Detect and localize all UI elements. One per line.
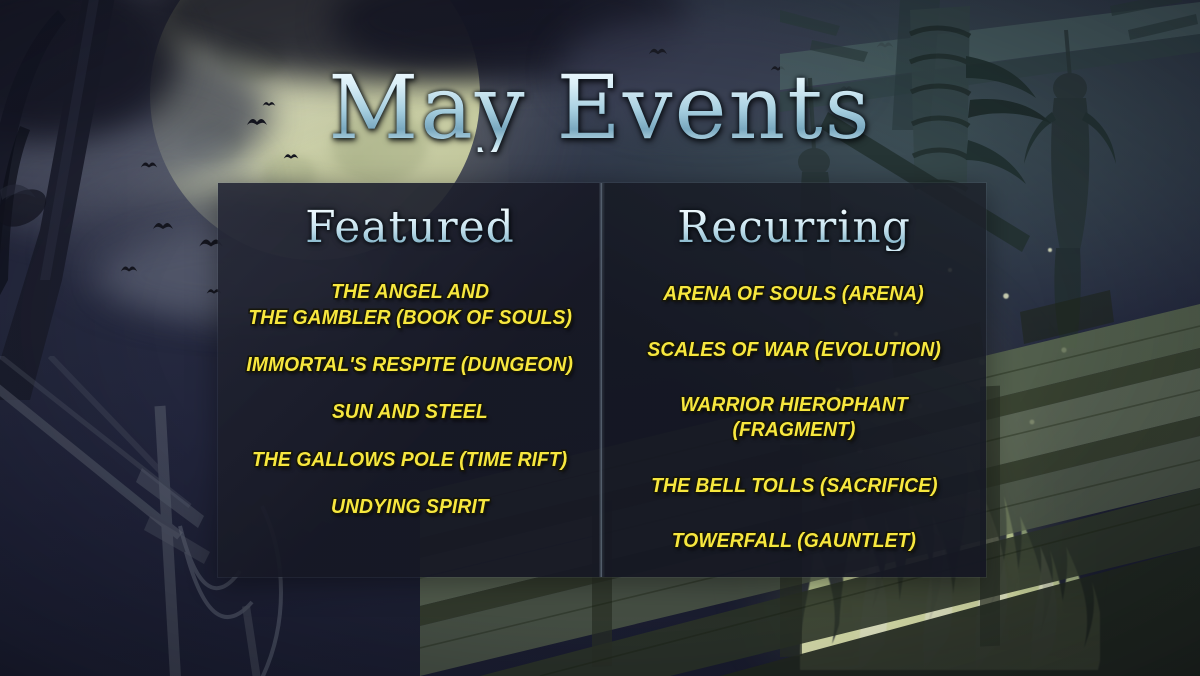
recurring-heading: Recurring xyxy=(677,205,911,251)
event-item[interactable]: Towerfall (Gauntlet) xyxy=(672,528,916,553)
event-item[interactable]: Warrior Hierophant (Fragment) xyxy=(627,392,962,443)
event-item[interactable]: The Bell Tolls (Sacrifice) xyxy=(651,473,938,498)
featured-heading: Featured xyxy=(305,205,515,251)
dark-banner-pole xyxy=(0,0,160,400)
event-item[interactable]: Undying Spirit xyxy=(331,494,489,519)
featured-event-list: The Angel and the Gambler (Book of Souls… xyxy=(232,279,588,519)
event-item[interactable]: Arena of Souls (Arena) xyxy=(664,281,924,306)
event-item[interactable]: Sun and Steel xyxy=(332,399,488,424)
event-poster: May Events May Events Featured The Angel… xyxy=(0,0,1200,676)
events-panels: Featured The Angel and the Gambler (Book… xyxy=(218,183,986,577)
featured-panel: Featured The Angel and the Gambler (Book… xyxy=(218,183,602,577)
page-title: May Events xyxy=(0,64,1200,152)
event-item[interactable]: The Gallows Pole (Time Rift) xyxy=(252,447,567,472)
event-item[interactable]: Scales of War (Evolution) xyxy=(647,337,941,362)
crow-icon xyxy=(283,152,299,161)
event-item[interactable]: The Angel and the Gambler (Book of Souls… xyxy=(248,279,572,330)
recurring-event-list: Arena of Souls (Arena) Scales of War (Ev… xyxy=(616,281,972,553)
recurring-panel: Recurring Arena of Souls (Arena) Scales … xyxy=(602,183,986,577)
event-item[interactable]: Immortal's Respite (Dungeon) xyxy=(247,352,574,377)
